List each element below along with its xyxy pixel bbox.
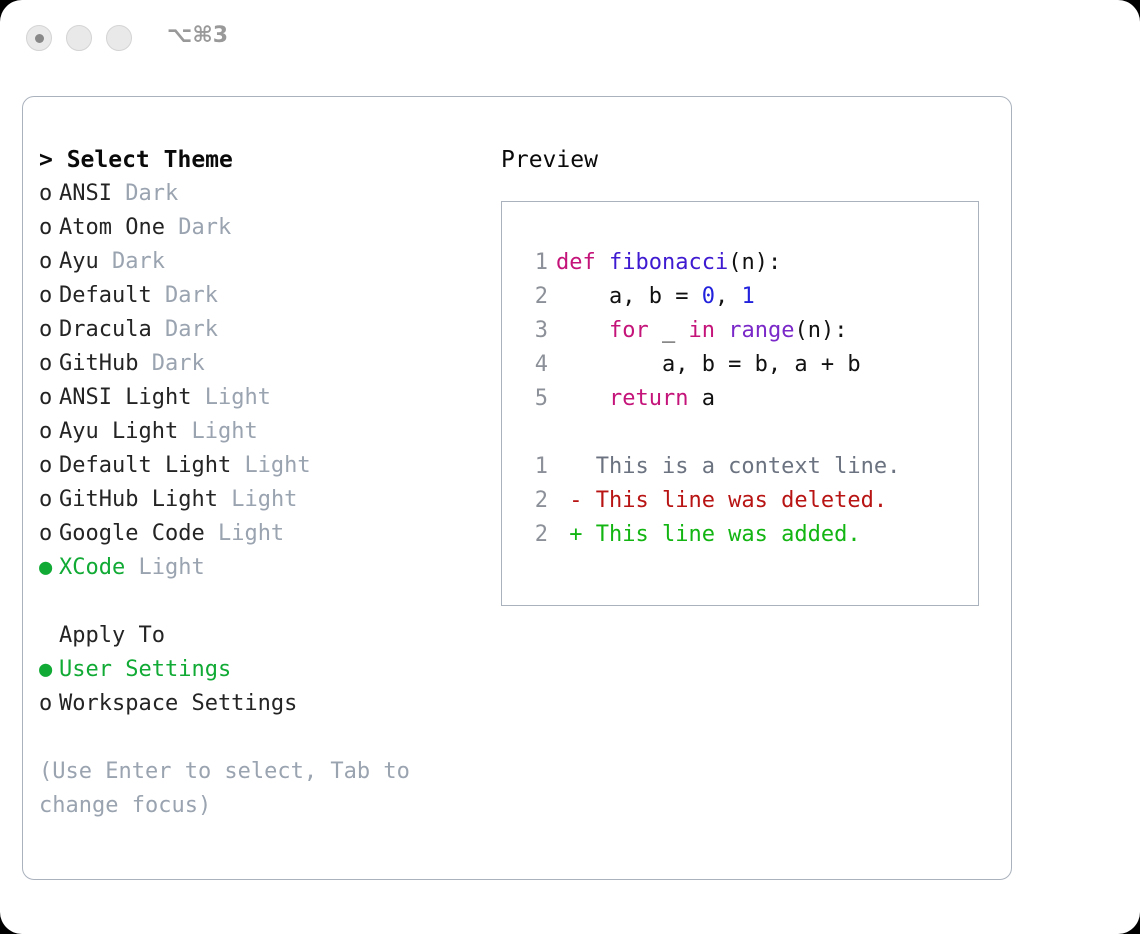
theme-option-label: Ayu Light [59, 419, 178, 444]
select-theme-heading: > Select Theme [39, 143, 479, 177]
apply-to-heading-label: Apply To [59, 623, 165, 648]
theme-option-label: Default [59, 283, 152, 308]
keyboard-hint-text: (Use Enter to select, Tab to change focu… [39, 755, 459, 823]
theme-option-github[interactable]: oGitHub Dark [39, 347, 479, 381]
radio-unselected-icon: o [39, 347, 59, 381]
radio-unselected-icon: o [39, 449, 59, 483]
code-token: 1 [741, 284, 754, 309]
theme-option-xcode[interactable]: ●XCode Light [39, 551, 479, 585]
radio-unselected-icon: o [39, 415, 59, 449]
code-token: range [728, 318, 794, 343]
apply-to-heading: Apply To [39, 619, 479, 653]
theme-option-default[interactable]: oDefault Dark [39, 279, 479, 313]
radio-unselected-icon: o [39, 177, 59, 211]
radio-unselected-icon: o [39, 381, 59, 415]
code-preview: 1def fibonacci(n):2 a, b = 0, 13 for _ i… [522, 246, 962, 552]
code-token: + This line was added. [556, 522, 861, 547]
theme-variant-tag: Light [138, 555, 204, 580]
window-titlebar: ⌥⌘3 [0, 0, 1140, 78]
code-token [556, 318, 609, 343]
diff-line: 1 This is a context line. [522, 450, 962, 484]
theme-option-label: Ayu [59, 249, 99, 274]
code-token: , [715, 284, 742, 309]
preview-box: 1def fibonacci(n):2 a, b = 0, 13 for _ i… [501, 201, 979, 606]
line-number: 1 [522, 246, 548, 280]
diff-line: 2 + This line was added. [522, 518, 962, 552]
diff-line: 2 - This line was deleted. [522, 484, 962, 518]
theme-variant-tag: Dark [165, 317, 218, 342]
code-line: 2 a, b = 0, 1 [522, 280, 962, 314]
code-token: - This line was deleted. [556, 488, 887, 513]
apply-to-option-workspace-settings[interactable]: oWorkspace Settings [39, 687, 479, 721]
theme-variant-tag: Dark [178, 215, 231, 240]
window-dot-active-inner [35, 34, 44, 43]
theme-variant-tag: Dark [112, 249, 165, 274]
theme-variant-tag: Dark [152, 351, 205, 376]
list-spacer [39, 585, 479, 619]
theme-option-label: Google Code [59, 521, 205, 546]
theme-option-label: GitHub [59, 351, 138, 376]
theme-variant-tag: Light [218, 521, 284, 546]
app-window: ⌥⌘3 > Select Theme oANSI DarkoAtom One D… [0, 0, 1140, 934]
main-panel: > Select Theme oANSI DarkoAtom One Darko… [22, 96, 1012, 880]
theme-variant-tag: Light [231, 487, 297, 512]
window-dot-active[interactable] [26, 25, 52, 51]
apply-to-list: ●User SettingsoWorkspace Settings [39, 653, 479, 721]
radio-unselected-icon: o [39, 313, 59, 347]
apply-to-option-label: Workspace Settings [59, 691, 297, 716]
preview-heading: Preview [501, 143, 991, 177]
code-line: 5 return a [522, 382, 962, 416]
theme-option-label: ANSI [59, 181, 112, 206]
theme-option-label: Dracula [59, 317, 152, 342]
theme-option-label: GitHub Light [59, 487, 218, 512]
code-line: 1def fibonacci(n): [522, 246, 962, 280]
radio-unselected-icon: o [39, 211, 59, 245]
radio-selected-icon: ● [39, 551, 59, 585]
code-token: 0 [702, 284, 715, 309]
radio-unselected-icon: o [39, 687, 59, 721]
apply-to-heading-indent [39, 619, 59, 653]
code-token: _ [649, 318, 689, 343]
code-line: 3 for _ in range(n): [522, 314, 962, 348]
line-number: 2 [522, 280, 548, 314]
line-number: 4 [522, 348, 548, 382]
apply-to-option-user-settings[interactable]: ●User Settings [39, 653, 479, 687]
line-number: 1 [522, 450, 548, 484]
code-token [715, 318, 728, 343]
code-token [556, 386, 609, 411]
theme-option-atom-one[interactable]: oAtom One Dark [39, 211, 479, 245]
line-number: 2 [522, 518, 548, 552]
theme-variant-tag: Light [191, 419, 257, 444]
code-token: a, b = b, a + b [556, 352, 861, 377]
theme-option-label: XCode [59, 555, 125, 580]
radio-unselected-icon: o [39, 245, 59, 279]
code-token: def [556, 250, 596, 275]
theme-variant-tag: Light [205, 385, 271, 410]
radio-unselected-icon: o [39, 483, 59, 517]
radio-selected-icon: ● [39, 653, 59, 687]
apply-to-option-label: User Settings [59, 657, 231, 682]
code-token: This is a context line. [556, 454, 900, 479]
window-dot-3[interactable] [106, 25, 132, 51]
theme-option-label: Atom One [59, 215, 165, 240]
code-token [596, 250, 609, 275]
code-blank-line [522, 416, 962, 450]
theme-variant-tag: Dark [165, 283, 218, 308]
theme-list: oANSI DarkoAtom One DarkoAyu DarkoDefaul… [39, 177, 479, 585]
code-token: for [609, 318, 649, 343]
theme-option-default-light[interactable]: oDefault Light Light [39, 449, 479, 483]
theme-option-label: Default Light [59, 453, 231, 478]
theme-option-google-code[interactable]: oGoogle Code Light [39, 517, 479, 551]
radio-unselected-icon: o [39, 279, 59, 313]
code-token: (n): [728, 250, 781, 275]
code-token: return [609, 386, 688, 411]
hint-spacer [39, 721, 479, 755]
theme-option-ansi[interactable]: oANSI Dark [39, 177, 479, 211]
line-number: 3 [522, 314, 548, 348]
code-line: 4 a, b = b, a + b [522, 348, 962, 382]
line-number: 2 [522, 484, 548, 518]
keyboard-shortcut-label: ⌥⌘3 [167, 23, 228, 48]
code-token: a [688, 386, 715, 411]
code-token: a, b = [556, 284, 702, 309]
theme-option-github-light[interactable]: oGitHub Light Light [39, 483, 479, 517]
theme-option-ayu[interactable]: oAyu Dark [39, 245, 479, 279]
radio-unselected-icon: o [39, 517, 59, 551]
code-token: (n): [794, 318, 847, 343]
theme-variant-tag: Dark [125, 181, 178, 206]
window-dot-2[interactable] [66, 25, 92, 51]
preview-column: Preview 1def fibonacci(n):2 a, b = 0, 13… [501, 143, 991, 177]
theme-option-ansi-light[interactable]: oANSI Light Light [39, 381, 479, 415]
code-token: fibonacci [609, 250, 728, 275]
theme-selection-column: > Select Theme oANSI DarkoAtom One Darko… [39, 143, 479, 823]
theme-option-label: ANSI Light [59, 385, 191, 410]
theme-option-dracula[interactable]: oDracula Dark [39, 313, 479, 347]
code-token: in [688, 318, 715, 343]
theme-variant-tag: Light [244, 453, 310, 478]
theme-option-ayu-light[interactable]: oAyu Light Light [39, 415, 479, 449]
line-number: 5 [522, 382, 548, 416]
